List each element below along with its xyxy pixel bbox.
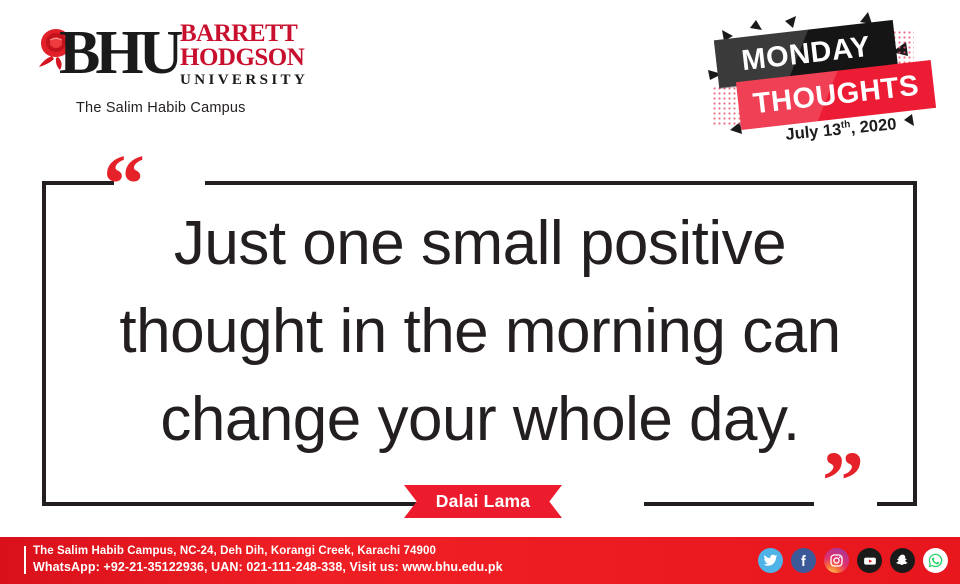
quote-author-ribbon: Dalai Lama (404, 485, 562, 518)
frame-border-top-right-segment (205, 181, 917, 185)
social-icon-row (758, 548, 948, 573)
twitter-icon[interactable] (758, 548, 783, 573)
footer-divider (24, 546, 26, 574)
quote-line-3: change your whole day. (60, 376, 900, 464)
snapchat-icon[interactable] (890, 548, 915, 573)
footer-contact-block: The Salim Habib Campus, NC-24, Deh Dih, … (33, 544, 503, 575)
whatsapp-icon[interactable] (923, 548, 948, 573)
frame-border-right (913, 181, 917, 506)
instagram-icon[interactable] (824, 548, 849, 573)
quote-line-1: Just one small positive (60, 200, 900, 288)
university-logo: BHU BARRETT HODGSON UNIVERSITY The Salim… (34, 18, 334, 118)
quote-line-2: thought in the morning can (60, 288, 900, 376)
footer-contact: WhatsApp: +92-21-35122936, UAN: 021-111-… (33, 559, 503, 575)
logo-name-line1: BARRETT (180, 22, 340, 46)
frame-border-bottom-right-segment (877, 502, 917, 506)
badge-date-year: , 2020 (850, 115, 897, 137)
frame-border-bottom-mid-segment (644, 502, 814, 506)
monday-thoughts-badge: MONDAY THOUGHTS July 13th, 2020 (700, 8, 950, 148)
logo-name-line2: HODGSON (180, 46, 340, 70)
poster-canvas: BHU BARRETT HODGSON UNIVERSITY The Salim… (0, 0, 960, 584)
quote-author-label: Dalai Lama (436, 491, 530, 512)
frame-border-left (42, 181, 46, 506)
campus-subtitle: The Salim Habib Campus (76, 100, 246, 116)
youtube-icon[interactable] (857, 548, 882, 573)
facebook-icon[interactable] (791, 548, 816, 573)
footer-address: The Salim Habib Campus, NC-24, Deh Dih, … (33, 544, 503, 559)
logo-monogram: BHU (59, 20, 179, 86)
logo-wordmark: BARRETT HODGSON UNIVERSITY (180, 22, 340, 90)
logo-lockup: BHU BARRETT HODGSON UNIVERSITY (34, 18, 334, 90)
logo-name-line3: UNIVERSITY (180, 70, 340, 90)
quote-text: Just one small positive thought in the m… (60, 200, 900, 464)
